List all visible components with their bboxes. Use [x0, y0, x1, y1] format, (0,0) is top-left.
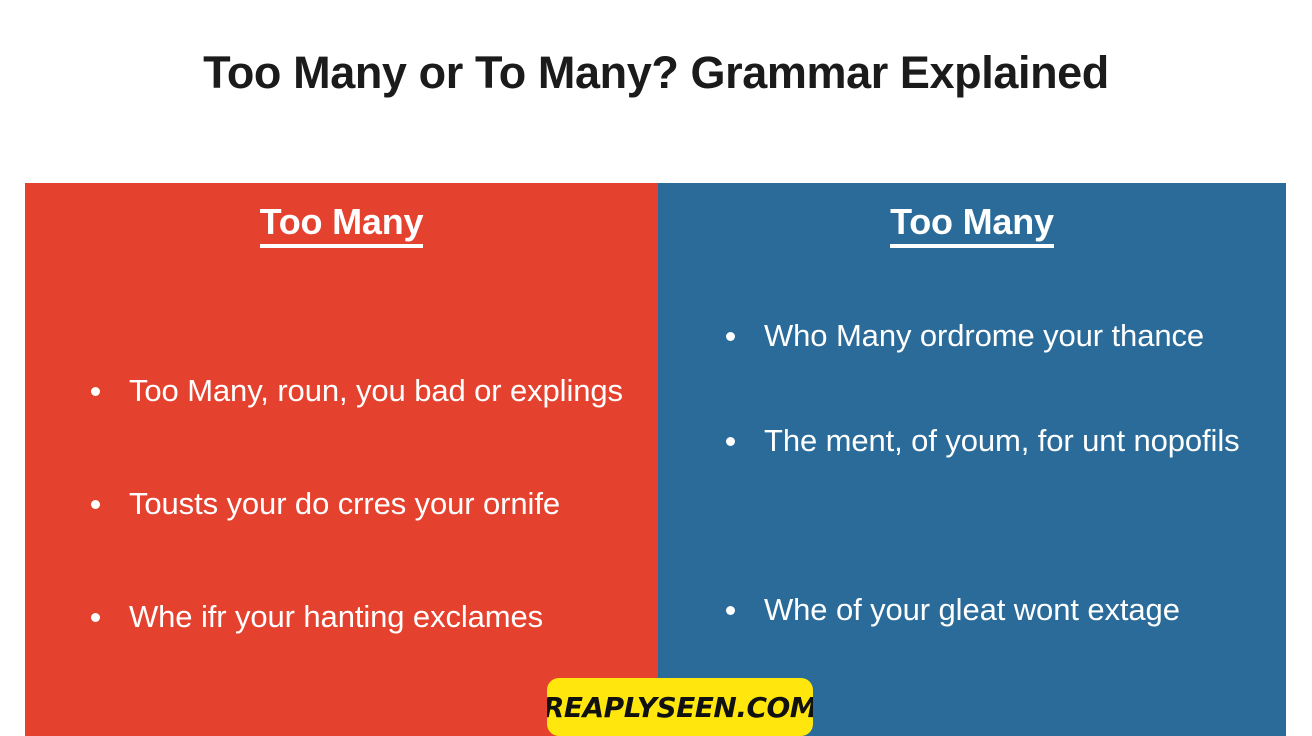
- bullet-dot-icon: [91, 613, 100, 622]
- list-item-text: Who Many ordrome your thance: [764, 318, 1204, 353]
- list-item: Who Many ordrome your thance: [706, 316, 1246, 355]
- list-item: Whe of your gleat wont extage: [706, 590, 1246, 629]
- list-item-text: Too Many, roun, you bad or explings: [129, 373, 623, 408]
- panel-right-heading-text: Too Many: [890, 201, 1054, 248]
- panel-left-heading: Too Many: [25, 201, 658, 243]
- panel-right-bullet-list: Who Many ordrome your thance The ment, o…: [706, 316, 1246, 629]
- list-item: The ment, of youm, for unt nopofils: [706, 421, 1246, 460]
- bullet-dot-icon: [91, 387, 100, 396]
- list-item: Too Many, roun, you bad or explings: [71, 371, 631, 410]
- panel-left-heading-text: Too Many: [260, 201, 424, 248]
- list-item-text: The ment, of youm, for unt nopofils: [764, 423, 1240, 458]
- comparison-panel-right: Too Many Who Many ordrome your thance Th…: [658, 183, 1286, 736]
- comparison-board: Too Many Too Many, roun, you bad or expl…: [25, 183, 1286, 736]
- list-item-text: Whe of your gleat wont extage: [764, 592, 1180, 627]
- bullet-dot-icon: [726, 332, 735, 341]
- watermark-badge: REAPLYSEEN.COM: [547, 678, 813, 736]
- bullet-dot-icon: [91, 500, 100, 509]
- watermark-label: REAPLYSEEN.COM: [547, 691, 813, 724]
- list-item: Tousts your do crres your ornife: [71, 484, 631, 523]
- comparison-panel-left: Too Many Too Many, roun, you bad or expl…: [25, 183, 658, 736]
- infographic-page: Too Many or To Many? Grammar Explained T…: [0, 0, 1312, 736]
- panel-right-heading: Too Many: [658, 201, 1286, 243]
- panel-left-bullet-list: Too Many, roun, you bad or explings Tous…: [71, 371, 631, 636]
- page-title: Too Many or To Many? Grammar Explained: [0, 44, 1312, 102]
- bullet-dot-icon: [726, 606, 735, 615]
- bullet-dot-icon: [726, 437, 735, 446]
- list-item-text: Tousts your do crres your ornife: [129, 486, 560, 521]
- list-item-text: Whe ifr your hanting exclames: [129, 599, 543, 634]
- list-item: Whe ifr your hanting exclames: [71, 597, 631, 636]
